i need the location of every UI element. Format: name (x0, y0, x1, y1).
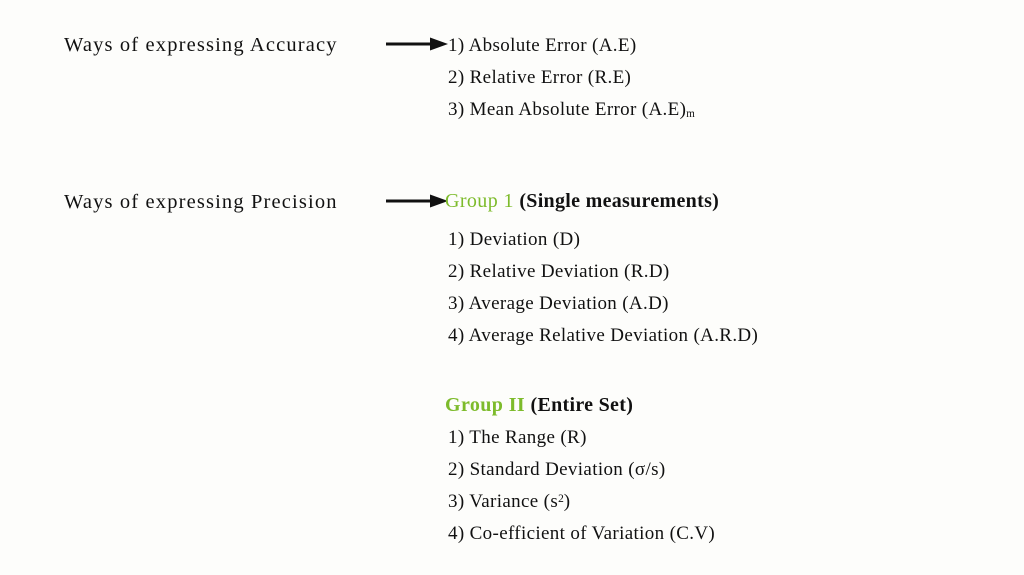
list-item-text: The Range (R) (469, 427, 586, 448)
list-item-text: Standard Deviation (σ/s) (470, 459, 666, 480)
list-item-number: 2) (448, 67, 465, 88)
list-item-text: Relative Error (R.E) (470, 67, 632, 88)
list-item: 1) Absolute Error (A.E) (448, 36, 637, 55)
list-item-number: 4) (448, 523, 465, 544)
list-item-text: Relative Deviation (R.D) (470, 261, 670, 282)
list-item: 2) Relative Deviation (R.D) (448, 262, 670, 281)
list-item-text: Co-efficient of Variation (C.V) (470, 523, 715, 544)
list-item-number: 3) (448, 293, 465, 314)
list-item-text: Average Relative Deviation (A.R.D) (469, 325, 759, 346)
list-item-number: 1) (448, 427, 465, 448)
list-item-text: Absolute Error (A.E) (469, 35, 637, 56)
list-item-number: 1) (448, 35, 465, 56)
list-item-number: 3) (448, 491, 465, 512)
right-arrow-icon (386, 36, 448, 52)
list-item: 2) Relative Error (R.E) (448, 68, 631, 87)
list-item-text: Variance (s (469, 491, 558, 512)
list-item: 3) Mean Absolute Error (A.E)m (448, 100, 695, 120)
group-2-qualifier: (Entire Set) (531, 394, 634, 416)
precision-label: Ways of expressing Precision (64, 192, 338, 213)
list-item: 3) Variance (s2) (448, 492, 570, 511)
list-item: 1) Deviation (D) (448, 230, 580, 249)
group-2-heading: Group II (Entire Set) (445, 395, 633, 415)
list-item-text: Deviation (D) (470, 229, 581, 250)
list-item-number: 4) (448, 325, 465, 346)
list-item: 2) Standard Deviation (σ/s) (448, 460, 666, 479)
list-item: 4) Co-efficient of Variation (C.V) (448, 524, 715, 543)
list-item-number: 1) (448, 229, 465, 250)
list-item-text-after: ) (564, 491, 571, 512)
list-item-number: 2) (448, 261, 465, 282)
list-item: 4) Average Relative Deviation (A.R.D) (448, 326, 758, 345)
list-item: 3) Average Deviation (A.D) (448, 294, 669, 313)
list-item-number: 2) (448, 459, 465, 480)
accuracy-label: Ways of expressing Accuracy (64, 35, 338, 56)
list-item-number: 3) (448, 99, 465, 120)
list-item-text: Mean Absolute Error (A.E) (470, 99, 687, 120)
diagram-canvas: Ways of expressing Accuracy 1) Absolute … (0, 0, 1024, 575)
list-item: 1) The Range (R) (448, 428, 587, 447)
group-1-heading: Group 1 (Single measurements) (445, 191, 719, 211)
list-item-text: Average Deviation (A.D) (469, 293, 669, 314)
group-1-qualifier: (Single measurements) (519, 190, 719, 212)
group-2-name: Group II (445, 394, 525, 416)
list-item-subscript: m (686, 108, 695, 120)
right-arrow-icon (386, 193, 448, 209)
group-1-name: Group 1 (445, 190, 514, 212)
